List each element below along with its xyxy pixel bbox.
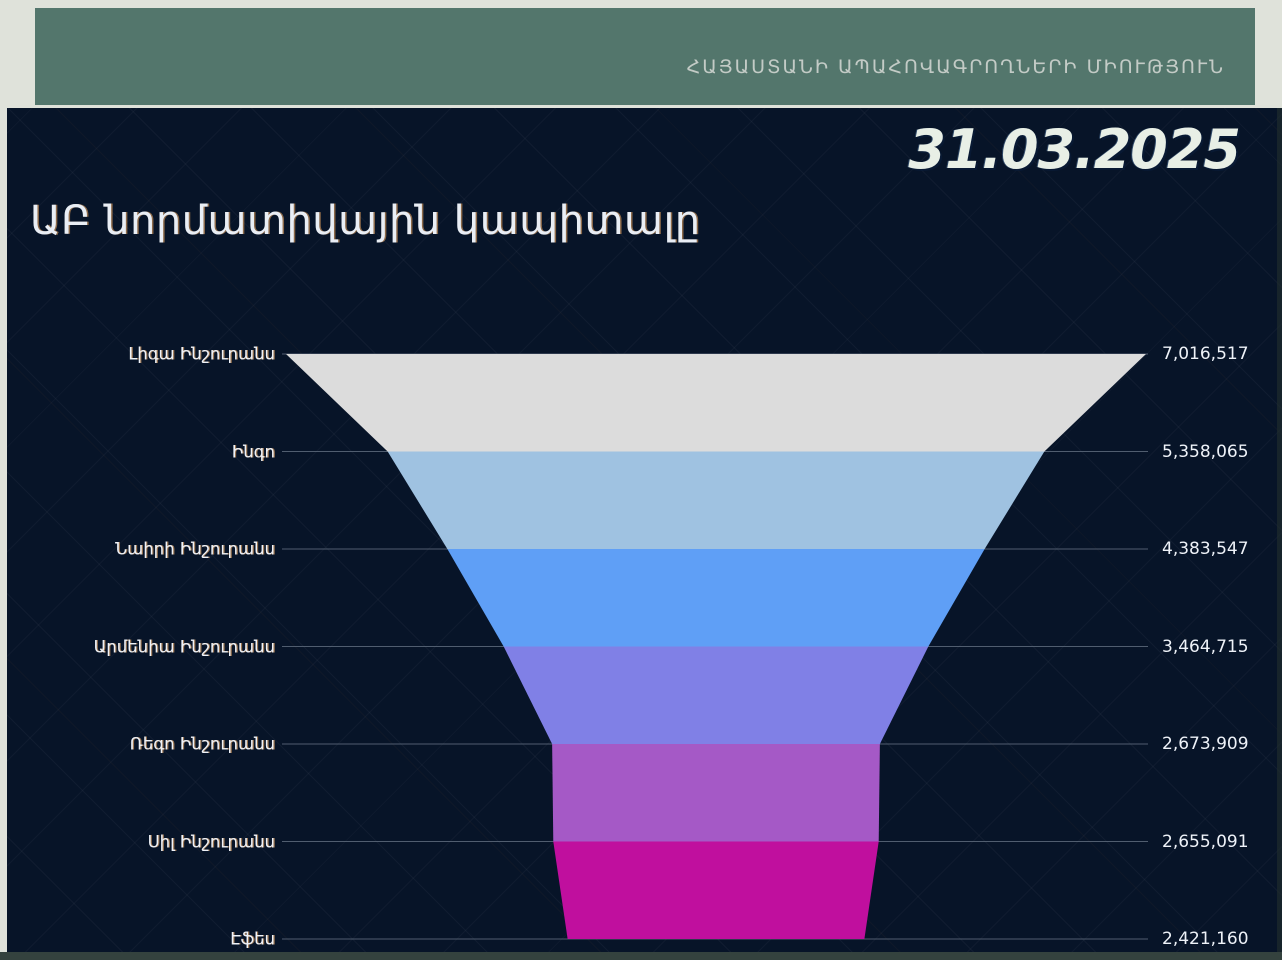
value-label: 2,673,909	[1162, 734, 1249, 754]
category-label: Նաիրի Ինշուրանս	[115, 540, 275, 559]
value-label: 5,358,065	[1162, 442, 1249, 462]
category-label: Արմենիա Ինշուրանս	[94, 637, 275, 656]
funnel-band[interactable]	[388, 452, 1045, 550]
value-label: 2,655,091	[1162, 832, 1249, 852]
category-label: Ինգո	[232, 442, 275, 461]
value-label: 4,383,547	[1162, 539, 1249, 559]
value-label: 7,016,517	[1162, 344, 1249, 364]
value-label: 3,464,715	[1162, 637, 1249, 657]
category-label: Էֆես	[230, 930, 275, 949]
slide-stage: ՀԱՅԱՍՏԱՆԻ ԱՊԱՀՈՎԱԳՐՈՂՆԵՐԻ ՄԻՈՒԹՅՈՒՆ 31.0…	[0, 0, 1282, 960]
value-label: 2,421,160	[1162, 929, 1249, 949]
category-label: Ռեգո Ինշուրանս	[130, 735, 275, 754]
funnel-band[interactable]	[504, 647, 929, 745]
funnel-band[interactable]	[553, 842, 878, 940]
funnel-band[interactable]	[447, 549, 984, 647]
funnel-band[interactable]	[286, 354, 1146, 452]
funnel-band[interactable]	[552, 744, 880, 842]
category-label: Սիլ Ինշուրանս	[148, 832, 275, 851]
category-label: Լիգա Ինշուրանս	[128, 345, 275, 364]
funnel-chart	[0, 0, 1282, 960]
